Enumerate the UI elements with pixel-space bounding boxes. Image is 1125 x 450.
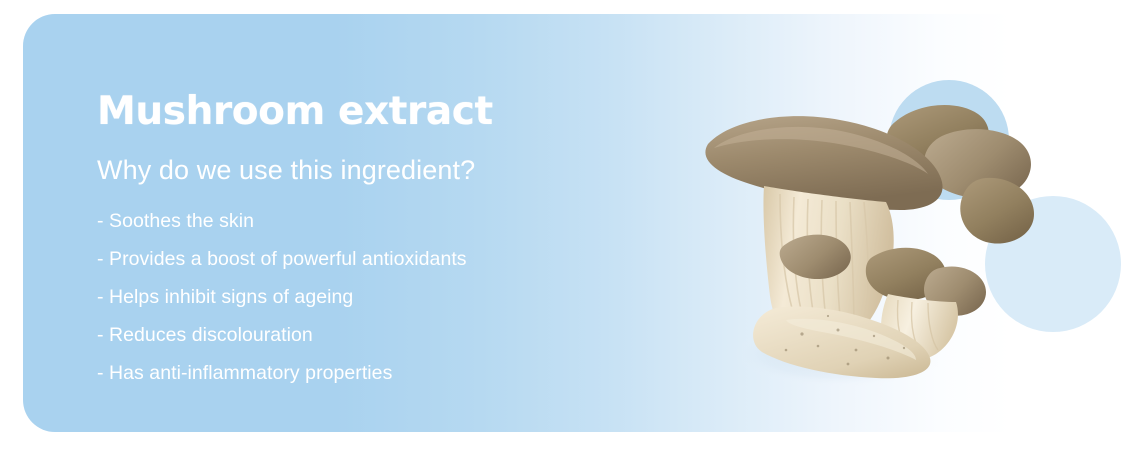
list-item: - Provides a boost of powerful antioxida…: [97, 240, 697, 278]
ingredient-banner: Mushroom extract Why do we use this ingr…: [0, 0, 1125, 450]
subtitle: Why do we use this ingredient?: [97, 154, 697, 186]
list-item: - Soothes the skin: [97, 202, 697, 240]
ingredient-card: Mushroom extract Why do we use this ingr…: [23, 14, 1063, 432]
list-item: - Has anti-inflammatory properties: [97, 354, 697, 392]
decorative-circle-upper: [889, 80, 1009, 200]
list-item: - Reduces discolouration: [97, 316, 697, 354]
ingredient-text-block: Mushroom extract Why do we use this ingr…: [97, 90, 697, 392]
decorative-circle-lower: [985, 196, 1121, 332]
page-title: Mushroom extract: [97, 90, 697, 134]
benefit-list: - Soothes the skin - Provides a boost of…: [97, 202, 697, 392]
list-item: - Helps inhibit signs of ageing: [97, 278, 697, 316]
